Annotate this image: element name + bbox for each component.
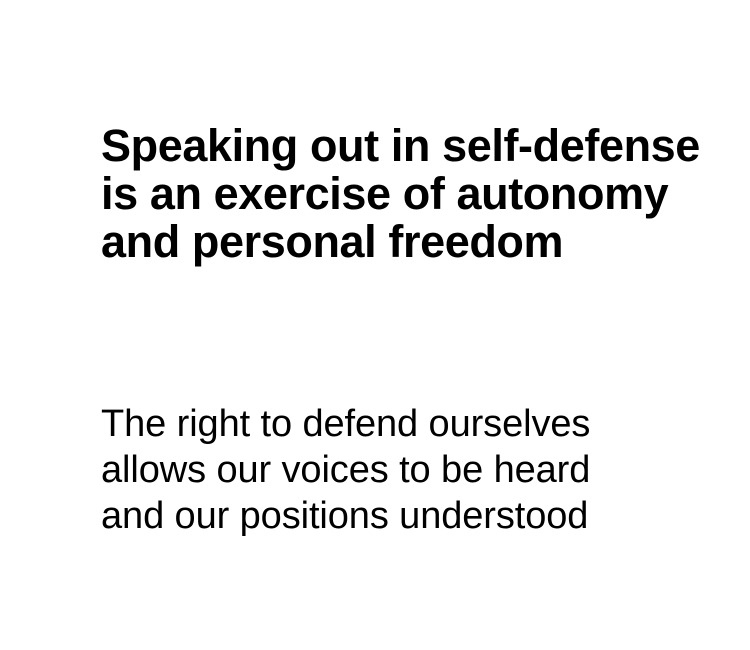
body-line-2: allows our voices to be heard	[101, 447, 701, 493]
body-line-1: The right to defend ourselves	[101, 401, 701, 447]
headline-line-2: is an exercise of autonomy	[101, 170, 701, 218]
headline-line-1: Speaking out in self-defense	[101, 122, 701, 170]
body-text-block: The right to defend ourselves allows our…	[101, 401, 701, 539]
body-line-3: and our positions understood	[101, 493, 701, 539]
headline-block: Speaking out in self-defense is an exerc…	[101, 122, 701, 266]
headline-line-3: and personal freedom	[101, 218, 701, 266]
slide-canvas: Speaking out in self-defense is an exerc…	[0, 0, 750, 650]
